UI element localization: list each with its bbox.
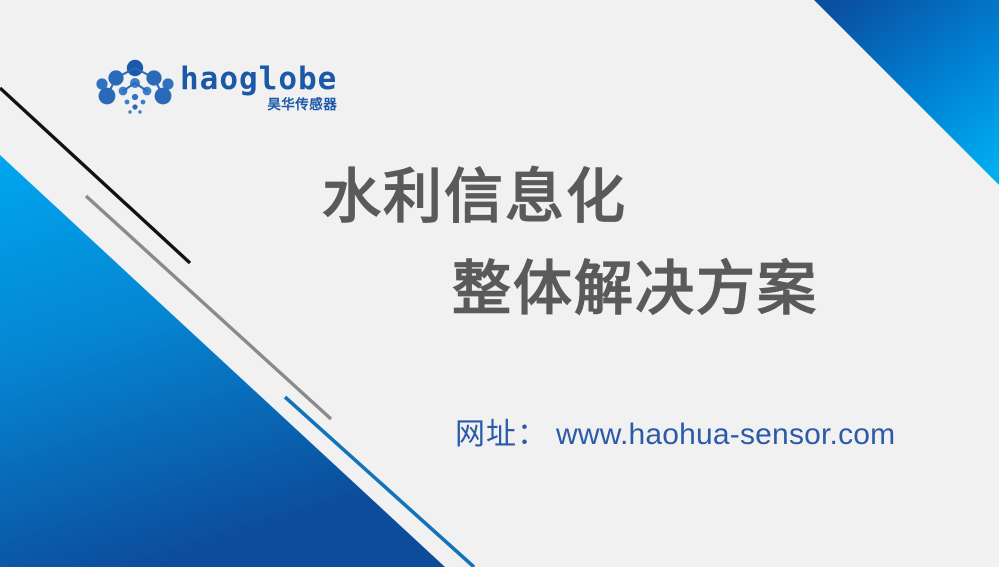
logo-text-group: haoglobe 昊华传感器: [180, 64, 337, 112]
website-url[interactable]: www.haohua-sensor.com: [556, 420, 895, 450]
title-line-1: 水利信息化: [322, 166, 627, 230]
molecule-network-icon: [96, 59, 174, 117]
company-logo[interactable]: haoglobe 昊华传感器: [96, 57, 311, 119]
logo-subtitle: 昊华传感器: [267, 98, 337, 112]
blue-diagonal-line: [285, 397, 474, 567]
logo-wordmark: haoglobe: [180, 64, 337, 95]
top-right-blue-triangle: [814, 0, 999, 185]
title-line-2: 整体解决方案: [452, 258, 818, 322]
website-label: 网址：: [455, 420, 548, 450]
page-title: 水利信息化 整体解决方案: [0, 160, 999, 340]
website-line: 网址： www.haohua-sensor.com: [455, 420, 895, 450]
presentation-title-slide: haoglobe 昊华传感器 水利信息化 整体解决方案 网址： www.haoh…: [0, 0, 999, 567]
